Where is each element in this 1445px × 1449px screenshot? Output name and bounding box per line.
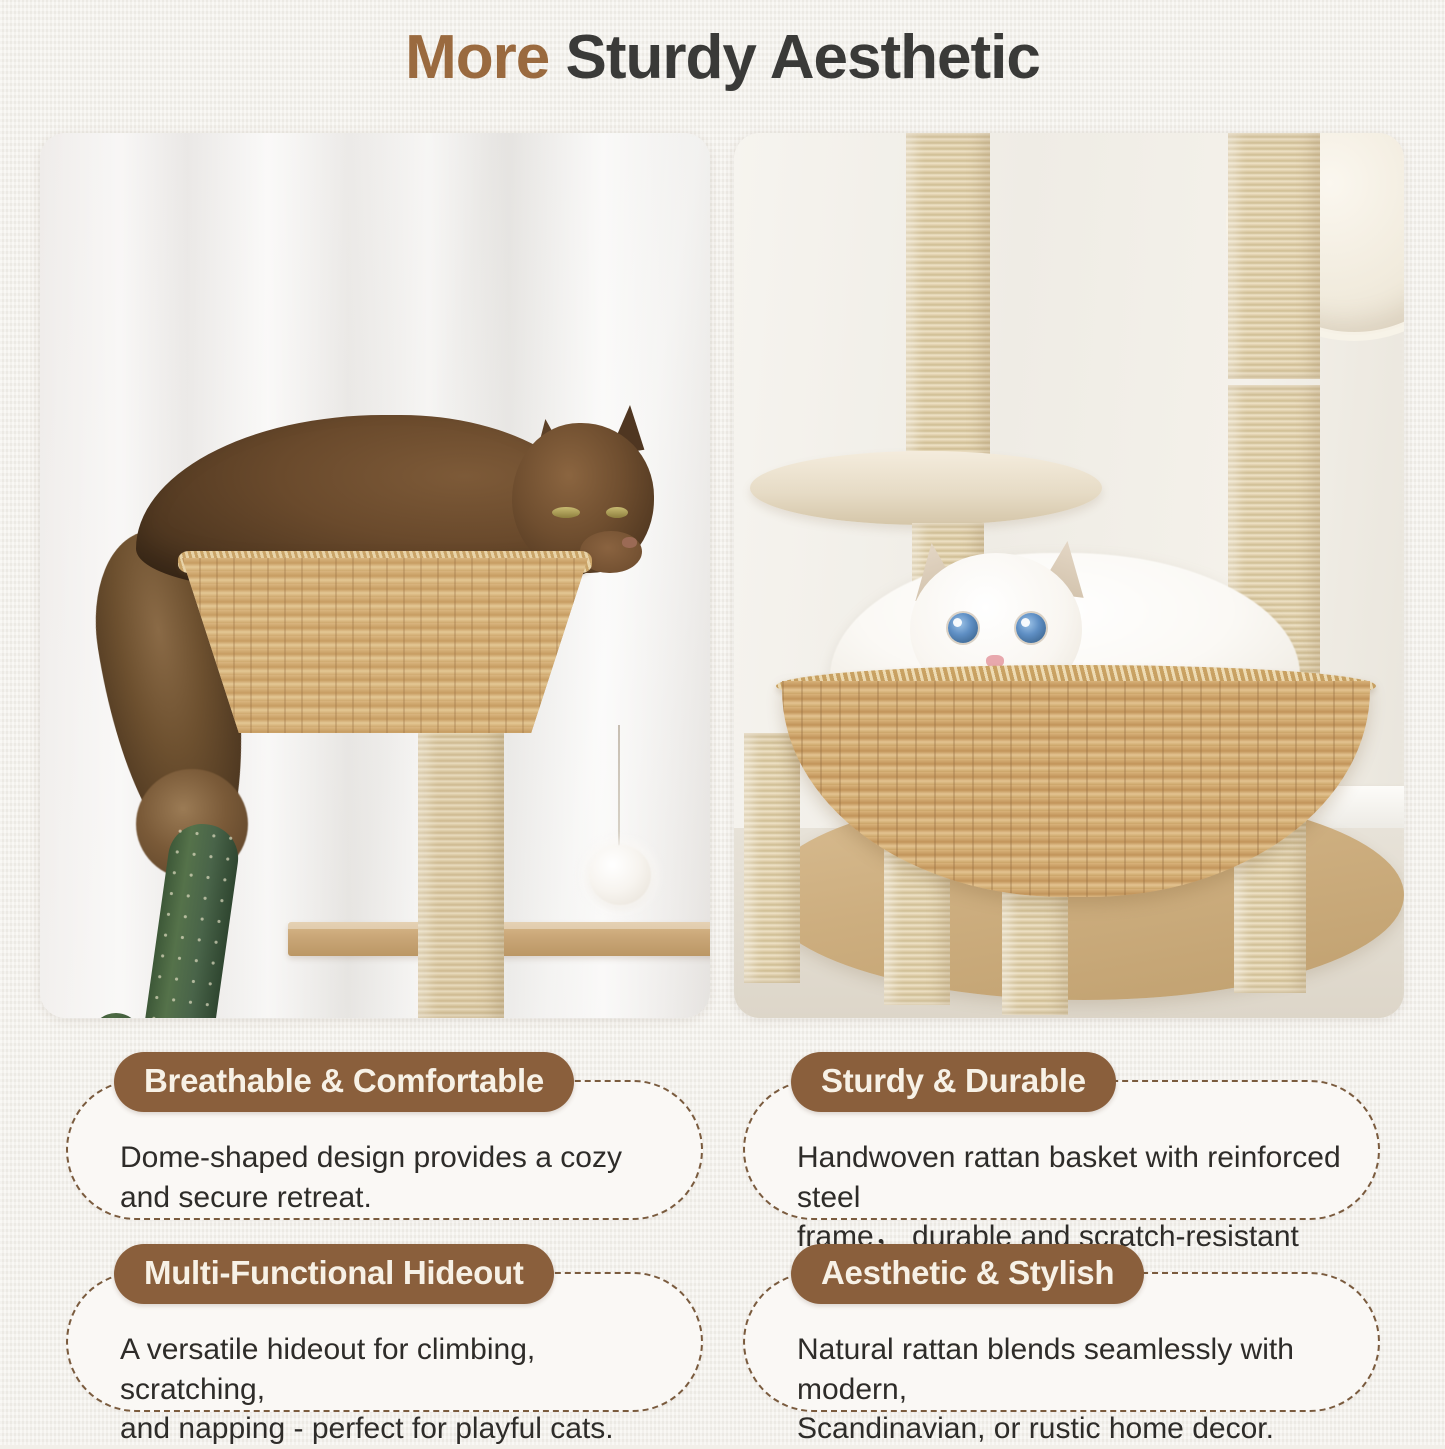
feature-description: Natural rattan blends seamlessly with mo… bbox=[797, 1330, 1348, 1449]
toy-string bbox=[618, 725, 620, 853]
product-photo-right[interactable] bbox=[734, 133, 1404, 1018]
sisal-post-tall-upper bbox=[1228, 133, 1320, 379]
feature-description: Dome-shaped design provides a cozy and s… bbox=[120, 1138, 671, 1217]
title-accent-word: More bbox=[405, 23, 549, 92]
tabby-cat-eye-left bbox=[552, 507, 580, 518]
feature-badge: Breathable & Comfortable bbox=[114, 1052, 574, 1112]
feature-badge: Sturdy & Durable bbox=[791, 1052, 1116, 1112]
feature-description-line: Scandinavian, or rustic home decor. bbox=[797, 1409, 1348, 1449]
feature-description-line: Natural rattan blends seamlessly with mo… bbox=[797, 1330, 1348, 1409]
title-main-words: Sturdy Aesthetic bbox=[566, 23, 1040, 92]
ragdoll-cat-eye-highlight-right bbox=[1021, 618, 1030, 627]
ragdoll-cat-eye-highlight-left bbox=[953, 618, 962, 627]
photo-gallery bbox=[40, 133, 1405, 1018]
tabby-cat-nose bbox=[622, 537, 637, 548]
feature-sturdy-durable: Sturdy & Durable Handwoven rattan basket… bbox=[735, 1052, 1388, 1234]
ragdoll-cat-eye-left bbox=[948, 613, 978, 643]
feature-multi-functional-hideout: Multi-Functional Hideout A versatile hid… bbox=[58, 1244, 711, 1426]
feature-grid: Breathable & Comfortable Dome-shaped des… bbox=[58, 1052, 1388, 1426]
ragdoll-cat-eye-right bbox=[1016, 613, 1046, 643]
tabby-cat-eye-right bbox=[606, 507, 628, 518]
feature-description-line: Dome-shaped design provides a cozy bbox=[120, 1138, 671, 1178]
sisal-post-top bbox=[906, 133, 990, 463]
feature-description-line: Handwoven rattan basket with reinforced … bbox=[797, 1138, 1348, 1217]
rattan-basket bbox=[182, 558, 588, 733]
round-platform bbox=[750, 451, 1102, 525]
feature-description-line: and secure retreat. bbox=[120, 1178, 671, 1218]
page-title: More Sturdy Aesthetic bbox=[0, 22, 1445, 93]
feature-description-line: and napping - perfect for playful cats. bbox=[120, 1409, 671, 1449]
pom-pom-toy bbox=[589, 845, 651, 905]
sisal-leg-outer bbox=[744, 733, 800, 983]
product-photo-left[interactable] bbox=[40, 133, 710, 1018]
sisal-post bbox=[418, 721, 504, 1018]
feature-badge: Multi-Functional Hideout bbox=[114, 1244, 554, 1304]
feature-badge: Aesthetic & Stylish bbox=[791, 1244, 1144, 1304]
feature-description: A versatile hideout for climbing, scratc… bbox=[120, 1330, 671, 1449]
feature-breathable-comfortable: Breathable & Comfortable Dome-shaped des… bbox=[58, 1052, 711, 1234]
feature-description-line: A versatile hideout for climbing, scratc… bbox=[120, 1330, 671, 1409]
